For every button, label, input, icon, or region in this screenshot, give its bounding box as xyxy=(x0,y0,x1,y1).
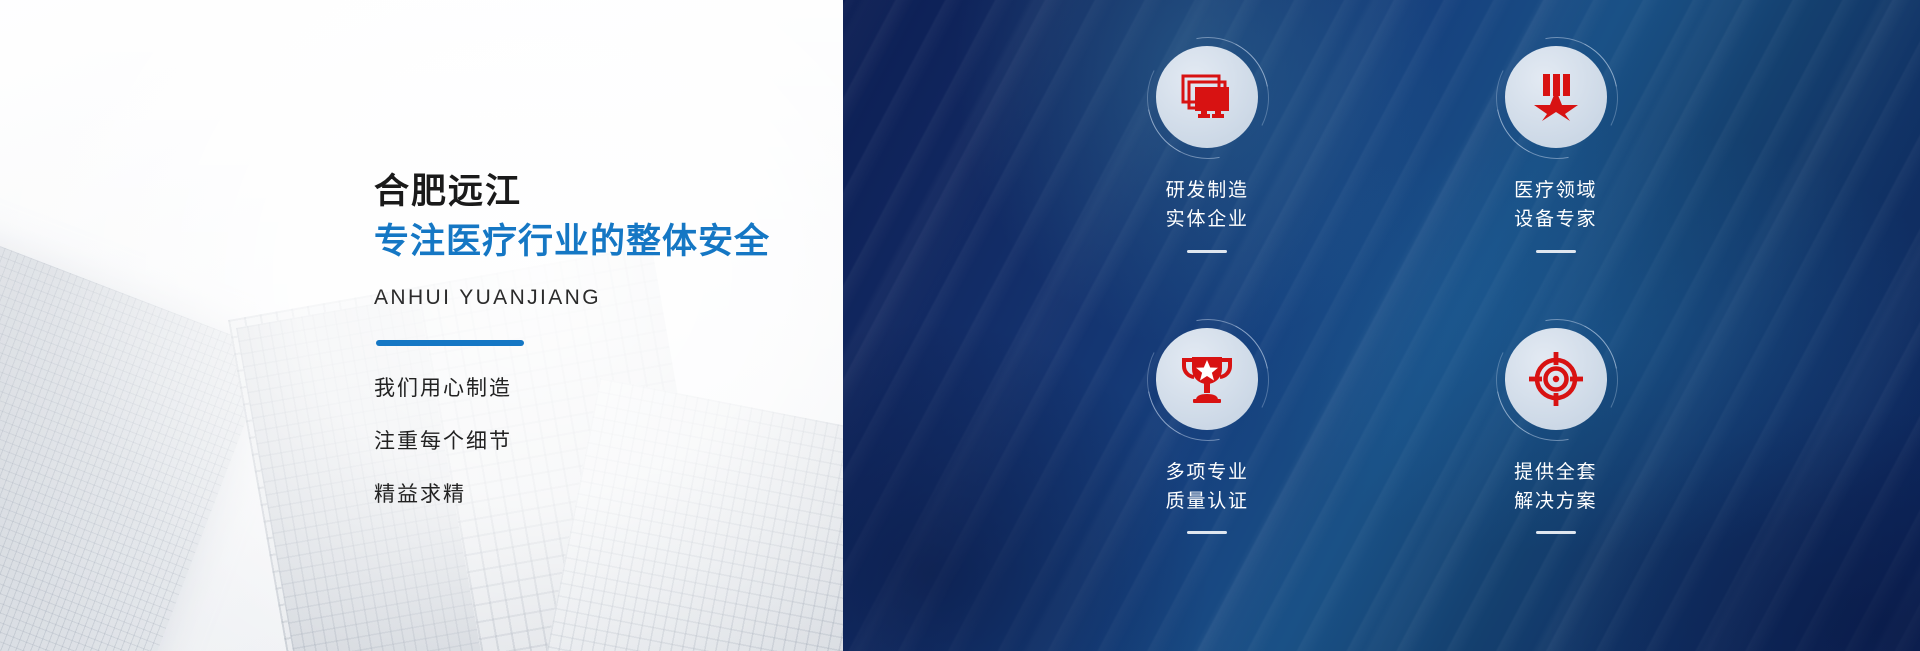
slogan-list: 我们用心制造 注重每个细节 精益求精 xyxy=(374,378,804,537)
promo-banner: 合肥远江 专注医疗行业的整体安全 ANHUI YUANJIANG 我们用心制造 … xyxy=(0,0,1920,651)
feature-caption: 研发制造 实体企业 xyxy=(1166,176,1249,235)
caption-underline xyxy=(1536,250,1576,253)
icon-container xyxy=(1505,46,1607,148)
left-hero-panel: 合肥远江 专注医疗行业的整体安全 ANHUI YUANJIANG 我们用心制造 … xyxy=(0,0,843,651)
icon-disc xyxy=(1156,46,1258,148)
feature-item-medical-expert[interactable]: 医疗领域 设备专家 xyxy=(1382,46,1731,328)
feature-caption: 多项专业 质量认证 xyxy=(1166,458,1249,517)
icon-container xyxy=(1156,328,1258,430)
target-icon xyxy=(1529,352,1583,406)
caption-line-2: 设备专家 xyxy=(1514,205,1597,234)
slogan-item: 注重每个细节 xyxy=(374,431,804,452)
feature-item-rd-manufacturing[interactable]: 研发制造 实体企业 xyxy=(1033,46,1382,328)
right-features-panel: 研发制造 实体企业 xyxy=(843,0,1920,651)
caption-line-1: 研发制造 xyxy=(1166,176,1249,205)
caption-underline xyxy=(1536,531,1576,534)
medal-icon xyxy=(1533,72,1579,122)
icon-disc xyxy=(1505,46,1607,148)
caption-line-2: 实体企业 xyxy=(1166,205,1249,234)
caption-underline xyxy=(1187,250,1227,253)
company-name-en: ANHUI YUANJIANG xyxy=(374,286,804,310)
tagline-cn: 专注医疗行业的整体安全 xyxy=(374,220,804,264)
icon-container xyxy=(1156,46,1258,148)
caption-line-2: 质量认证 xyxy=(1166,487,1249,516)
icon-disc xyxy=(1505,328,1607,430)
slogan-item: 精益求精 xyxy=(374,484,804,505)
caption-underline xyxy=(1187,531,1227,534)
caption-line-2: 解决方案 xyxy=(1514,487,1597,516)
feature-caption: 医疗领域 设备专家 xyxy=(1514,176,1597,235)
feature-grid: 研发制造 实体企业 xyxy=(843,0,1920,651)
caption-line-1: 医疗领域 xyxy=(1514,176,1597,205)
slogan-item: 我们用心制造 xyxy=(374,378,804,399)
icon-disc xyxy=(1156,328,1258,430)
icon-container xyxy=(1505,328,1607,430)
company-name-cn: 合肥远江 xyxy=(374,170,804,214)
feature-caption: 提供全套 解决方案 xyxy=(1514,458,1597,517)
feature-item-full-solution[interactable]: 提供全套 解决方案 xyxy=(1382,328,1731,610)
hero-text-block: 合肥远江 专注医疗行业的整体安全 ANHUI YUANJIANG 我们用心制造 … xyxy=(374,0,804,651)
trophy-icon xyxy=(1180,354,1234,404)
accent-divider xyxy=(376,340,524,346)
factory-icon xyxy=(1181,74,1233,120)
caption-line-1: 提供全套 xyxy=(1514,458,1597,487)
caption-line-1: 多项专业 xyxy=(1166,458,1249,487)
feature-item-quality-certification[interactable]: 多项专业 质量认证 xyxy=(1033,328,1382,610)
